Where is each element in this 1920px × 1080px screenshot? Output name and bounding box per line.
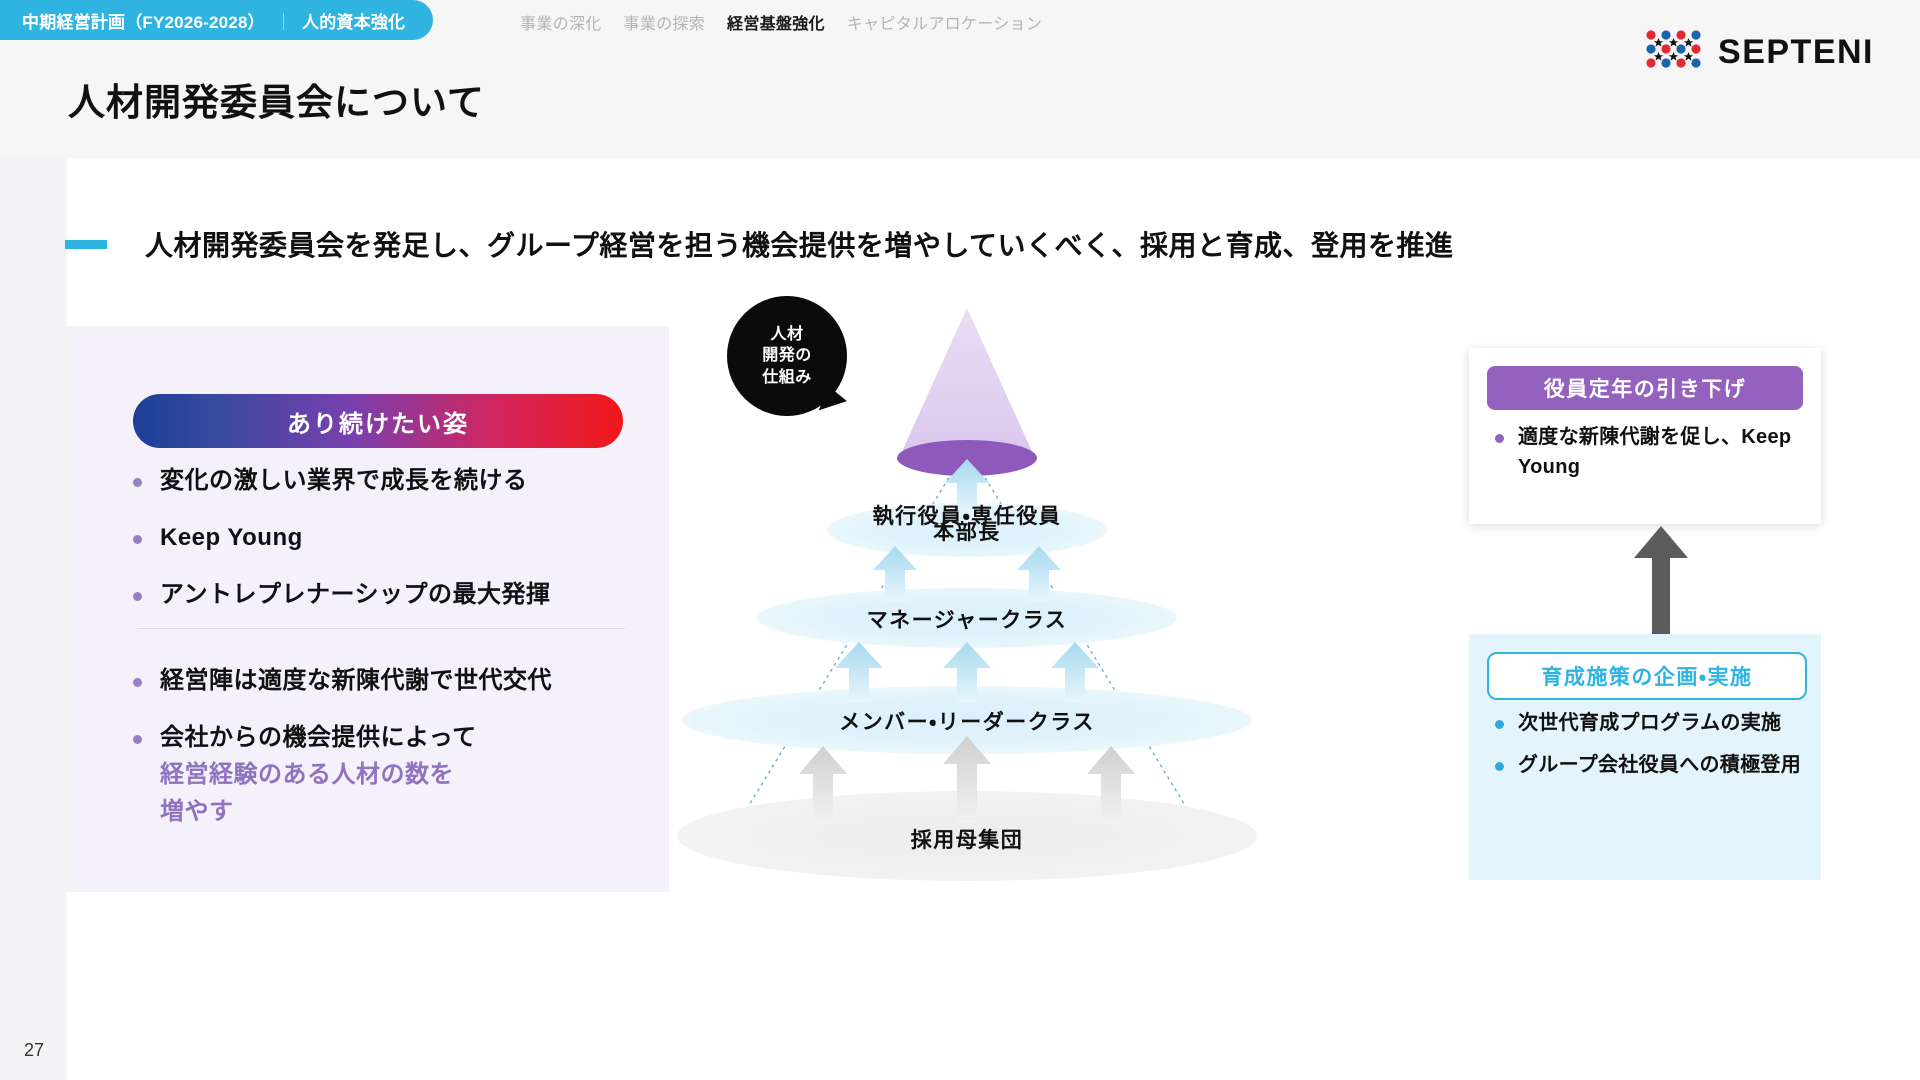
- up-arrow-icon: [1630, 524, 1692, 636]
- plan-chip-separator: ｜: [275, 8, 292, 33]
- talent-pyramid-diagram: 人材 開発の 仕組み: [677, 278, 1477, 1068]
- list-item-line2-accent: 経営経験のある人材の数を: [160, 756, 477, 793]
- nav-tab-shinka[interactable]: 事業の深化: [520, 10, 602, 34]
- retirement-age-pill: 役員定年の引き下げ: [1487, 366, 1803, 410]
- lead-statement-text: 人材開発委員会を発足し、グループ経営を担う機会提供を増やしていくべく、採用と育成…: [145, 224, 1454, 264]
- left-panel-list-b: 経営陣は適度な新陳代謝で世代交代 会社からの機会提供によって 経営経験のある人材…: [133, 664, 552, 852]
- septeni-wordmark: SEPTENI: [1718, 35, 1874, 69]
- list-item-line1: 会社からの機会提供によって: [160, 724, 477, 751]
- plan-chip-sub: 人的資本強化: [302, 8, 405, 33]
- header-bar: 中期経営計画（FY2026-2028） ｜ 人的資本強化 事業の深化 事業の探索…: [0, 0, 1920, 158]
- left-panel: あり続けたい姿 変化の激しい業界で成長を続ける Keep Young アントレプ…: [67, 326, 669, 892]
- septeni-dot-matrix-icon: [1644, 28, 1706, 76]
- list-item-label: 次世代育成プログラムの実施: [1518, 708, 1781, 738]
- list-item-label: Keep Young: [160, 521, 303, 556]
- left-panel-list-a: 変化の激しい業界で成長を続ける Keep Young アントレプレナーシップの最…: [133, 464, 551, 634]
- tier-label-member-leader: メンバー・リーダークラス: [792, 706, 1142, 736]
- right-bottom-list: 次世代育成プログラムの実施 グループ会社役員への積極登用: [1495, 708, 1801, 792]
- septeni-logo: SEPTENI: [1644, 28, 1874, 76]
- page-number: 27: [24, 1040, 44, 1061]
- bullet-dot-icon: [133, 735, 142, 744]
- bullet-dot-icon: [133, 678, 142, 687]
- bullet-dot-icon: [133, 592, 142, 601]
- bullet-dot-icon: [1495, 720, 1504, 729]
- list-item: Keep Young: [133, 521, 551, 556]
- list-item: 経営陣は適度な新陳代謝で世代交代: [133, 664, 552, 699]
- list-item: 適度な新陳代謝を促し、Keep Young: [1495, 422, 1801, 482]
- list-item: アントレプレナーシップの最大発揮: [133, 578, 551, 613]
- nav-tabs: 事業の深化 事業の探索 経営基盤強化 キャピタルアロケーション: [520, 10, 1042, 34]
- plan-chip: 中期経営計画（FY2026-2028） ｜ 人的資本強化: [0, 0, 433, 40]
- plan-chip-main: 中期経営計画（FY2026-2028）: [22, 8, 265, 33]
- tier-label-division-head: 本部長: [867, 516, 1067, 546]
- bullet-dot-icon: [133, 535, 142, 544]
- slide-content-card: 人材開発委員会を発足し、グループ経営を担う機会提供を増やしていくべく、採用と育成…: [67, 158, 1920, 1080]
- lead-statement-row: 人材開発委員会を発足し、グループ経営を担う機会提供を増やしていくべく、採用と育成…: [67, 224, 1454, 264]
- list-item: グループ会社役員への積極登用: [1495, 750, 1801, 780]
- tier-label-manager: マネージャークラス: [817, 604, 1117, 634]
- list-item-label: グループ会社役員への積極登用: [1518, 750, 1801, 780]
- ideal-state-pill: あり続けたい姿: [133, 394, 623, 448]
- list-item-label: 変化の激しい業界で成長を続ける: [160, 464, 528, 499]
- list-item-line3-accent: 増やす: [160, 793, 477, 830]
- list-item-label: 会社からの機会提供によって 経営経験のある人材の数を 増やす: [160, 721, 477, 830]
- bullet-dot-icon: [1495, 434, 1504, 443]
- right-top-card: 役員定年の引き下げ 適度な新陳代謝を促し、Keep Young: [1469, 348, 1821, 524]
- bullet-dot-icon: [1495, 762, 1504, 771]
- development-measures-pill: 育成施策の企画・実施: [1487, 652, 1807, 700]
- development-measures-pill-label: 育成施策の企画・実施: [1541, 661, 1752, 691]
- retirement-age-pill-label: 役員定年の引き下げ: [1544, 373, 1747, 403]
- list-item-label: アントレプレナーシップの最大発揮: [160, 578, 551, 613]
- tier-label-recruiting-pool: 採用母集団: [867, 824, 1067, 854]
- ideal-state-pill-label: あり続けたい姿: [287, 404, 469, 439]
- pyramid-shapes: [677, 278, 1477, 1068]
- right-top-list: 適度な新陳代謝を促し、Keep Young: [1495, 422, 1801, 494]
- divider: [137, 628, 625, 629]
- right-bottom-card: 育成施策の企画・実施 次世代育成プログラムの実施 グループ会社役員への積極登用: [1469, 634, 1821, 880]
- list-item: 次世代育成プログラムの実施: [1495, 708, 1801, 738]
- list-item: 会社からの機会提供によって 経営経験のある人材の数を 増やす: [133, 721, 552, 830]
- list-item: 変化の激しい業界で成長を続ける: [133, 464, 551, 499]
- dash-marker-icon: [65, 240, 107, 249]
- page-title: 人材開発委員会について: [68, 72, 485, 126]
- list-item-label: 経営陣は適度な新陳代謝で世代交代: [160, 664, 552, 699]
- nav-tab-keiei-kiban[interactable]: 経営基盤強化: [727, 10, 825, 34]
- bullet-dot-icon: [133, 478, 142, 487]
- nav-tab-capital-allocation[interactable]: キャピタルアロケーション: [847, 10, 1042, 34]
- nav-tab-tansaku[interactable]: 事業の探索: [624, 10, 706, 34]
- list-item-label: 適度な新陳代謝を促し、Keep Young: [1518, 422, 1801, 482]
